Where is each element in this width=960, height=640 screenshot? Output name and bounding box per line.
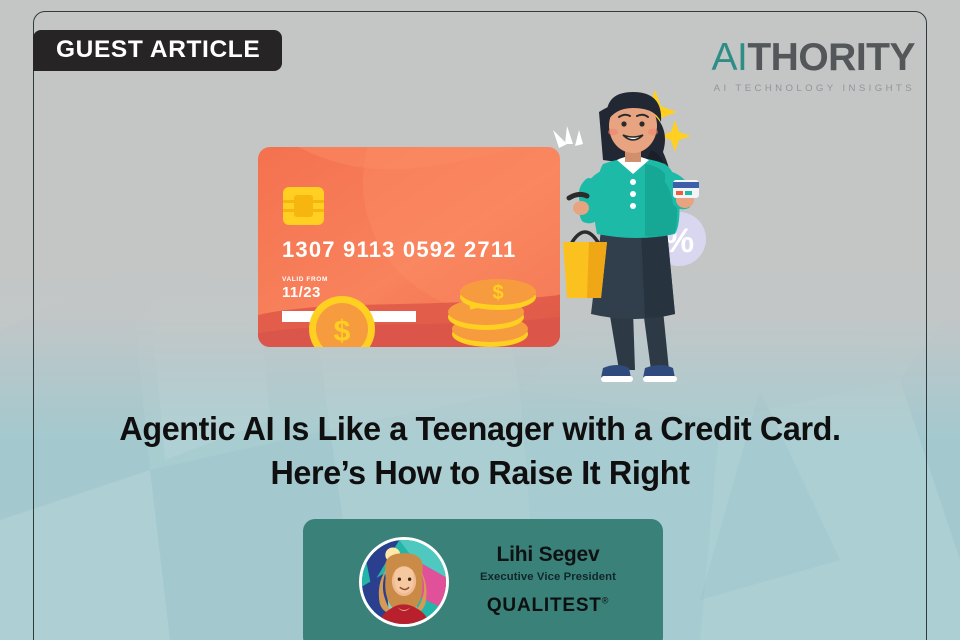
company-trademark-mark: ® — [602, 596, 609, 606]
shopper-illustration: % — [545, 82, 725, 387]
headline-line-1: Agentic AI Is Like a Teenager with a Cre… — [119, 411, 840, 448]
guest-article-label: GUEST ARTICLE — [56, 38, 260, 63]
author-name: Lihi Segev — [455, 543, 641, 566]
banner-canvas: 1307 9113 0592 2711 VALID FROM 11/23 $ $ — [0, 0, 960, 640]
aithority-logo[interactable]: AITHORITY AI TECHNOLOGY INSIGHTS — [711, 38, 915, 94]
card-valid-from-value: 11/23 — [282, 284, 321, 301]
author-job-title: Executive Vice President — [455, 571, 641, 583]
author-details: Lihi Segev Executive Vice President QUAL… — [449, 537, 663, 617]
svg-text:$: $ — [334, 315, 351, 347]
avatar-photo — [362, 540, 446, 624]
card-number: 1307 9113 0592 2711 — [282, 237, 516, 262]
coin-stack-icon: $ — [448, 279, 536, 347]
logo-accent-text: AI — [711, 36, 747, 79]
author-card: Lihi Segev Executive Vice President QUAL… — [303, 519, 663, 640]
article-headline: Agentic AI Is Like a Teenager with a Cre… — [17, 408, 943, 495]
card-chip-icon — [283, 187, 324, 225]
card-valid-from-label: VALID FROM — [282, 276, 328, 283]
logo-tagline: AI TECHNOLOGY INSIGHTS — [711, 83, 915, 94]
author-avatar — [359, 537, 449, 627]
credit-card-illustration: 1307 9113 0592 2711 VALID FROM 11/23 $ $ — [258, 147, 560, 347]
author-company: QUALITEST® — [487, 595, 609, 617]
logo-main-text: THORITY — [747, 36, 915, 79]
burst-icon — [553, 126, 583, 148]
mini-card-icon — [673, 180, 699, 198]
logo-wordmark: AITHORITY — [711, 38, 915, 77]
company-name: QUALITEST — [487, 595, 602, 616]
guest-article-badge: GUEST ARTICLE — [33, 30, 282, 71]
headline-line-2: Here’s How to Raise It Right — [17, 452, 943, 496]
svg-text:$: $ — [492, 282, 503, 304]
